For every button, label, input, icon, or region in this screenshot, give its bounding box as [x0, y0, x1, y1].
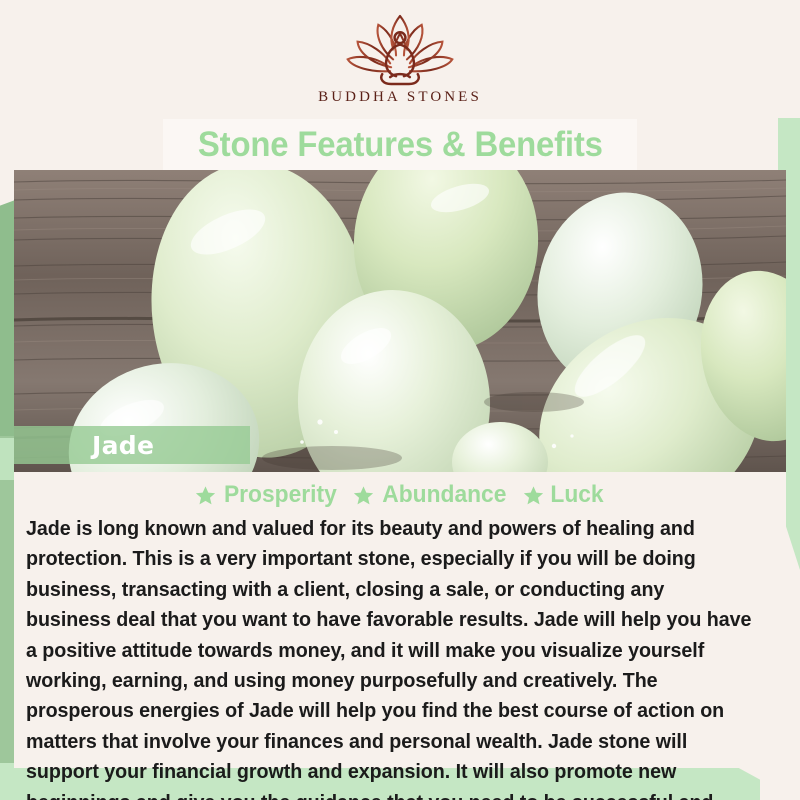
benefit-item: Abundance: [353, 481, 510, 509]
stone-name: Jade: [92, 431, 154, 460]
page-title: Stone Features & Benefits: [198, 125, 603, 165]
lotus-meditation-icon: [340, 12, 460, 86]
content-panel: Prosperity Abundance Luck Jade: [14, 472, 786, 768]
benefits-row: Prosperity Abundance Luck: [26, 478, 774, 512]
benefit-item: Luck: [523, 481, 605, 509]
star-icon: [195, 485, 216, 506]
benefit-label: Abundance: [382, 481, 506, 509]
title-banner: Stone Features & Benefits: [163, 119, 637, 170]
star-icon: [523, 485, 544, 506]
infographic-page: BUDDHA STONES Stone Features & Benefits: [0, 0, 800, 800]
brand-name: BUDDHA STONES: [318, 89, 482, 106]
stone-description: Jade is long known and valued for its be…: [26, 514, 752, 800]
star-icon: [353, 485, 374, 506]
stone-name-band: Jade: [14, 426, 250, 464]
benefit-item: Prosperity: [195, 481, 340, 509]
brand-header: BUDDHA STONES: [0, 0, 800, 118]
benefit-label: Prosperity: [224, 481, 337, 509]
benefit-label: Luck: [550, 481, 603, 509]
